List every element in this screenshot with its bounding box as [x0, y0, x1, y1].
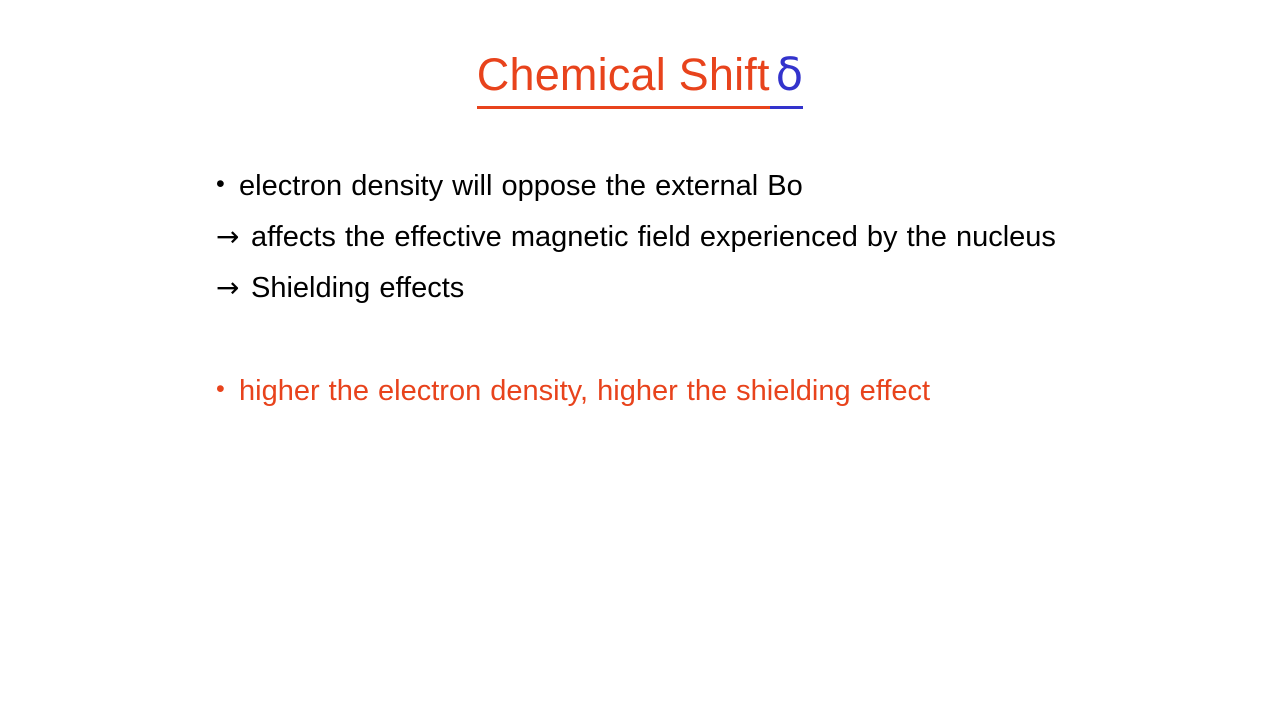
- page-title: Chemical Shift: [477, 52, 770, 109]
- list-item-label: Shielding effects: [251, 268, 1116, 308]
- slide-title: Chemical Shiftδ: [0, 52, 1280, 109]
- slide-canvas: Chemical Shiftδ • electron density will …: [0, 0, 1280, 720]
- arrow-right-icon: →: [216, 268, 251, 308]
- list-item: → affects the effective magnetic field e…: [216, 217, 1116, 257]
- list-item: • electron density will oppose the exter…: [216, 166, 1116, 206]
- arrow-right-icon: →: [216, 217, 251, 257]
- bullet-icon: •: [216, 371, 239, 408]
- list-item: → Shielding effects: [216, 268, 1116, 308]
- list-item-label: electron density will oppose the externa…: [239, 166, 1116, 206]
- delta-symbol: δ: [770, 52, 804, 109]
- bullet-icon: •: [216, 166, 239, 203]
- slide-body: • electron density will oppose the exter…: [216, 166, 1116, 422]
- title-inner: Chemical Shiftδ: [477, 52, 803, 109]
- list-item: • higher the electron density, higher th…: [216, 371, 1116, 411]
- list-item-label: higher the electron density, higher the …: [239, 371, 1116, 411]
- list-item-label: affects the effective magnetic field exp…: [251, 217, 1087, 257]
- blank-line-spacer: [216, 319, 1116, 371]
